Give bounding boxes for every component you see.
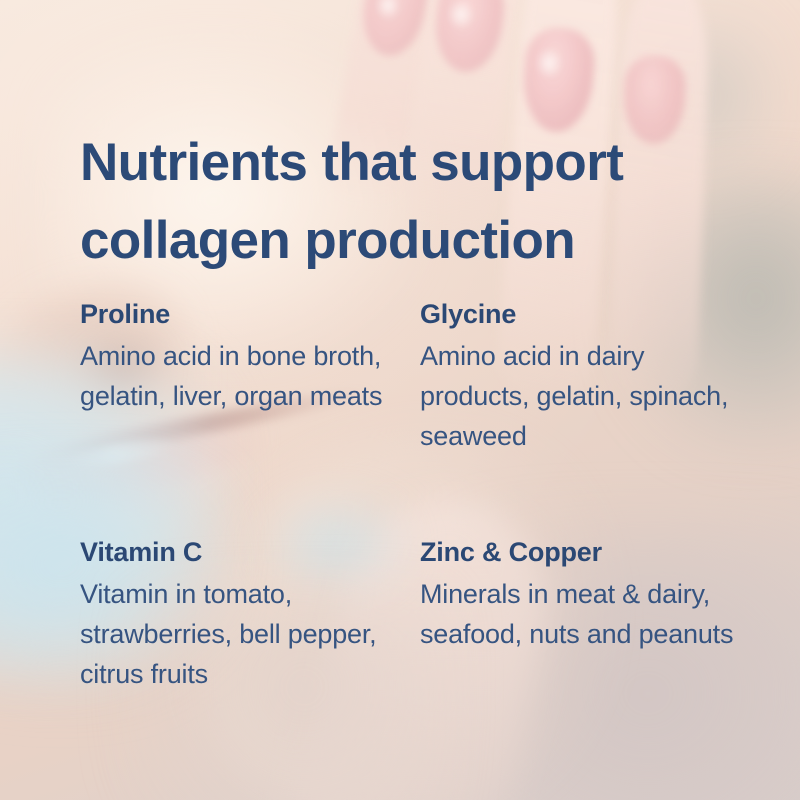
nutrient-description-glycine: Amino acid in dairy products, gelatin, s… (420, 336, 740, 456)
page-title-line-2: collagen production (80, 202, 740, 280)
nutrient-title-glycine: Glycine (420, 296, 740, 332)
nutrient-card-proline: Proline Amino acid in bone broth, gelati… (80, 296, 420, 456)
nutrient-description-proline: Amino acid in bone broth, gelatin, liver… (80, 336, 402, 416)
nutrient-title-zinc-copper: Zinc & Copper (420, 534, 740, 570)
nutrient-title-proline: Proline (80, 296, 402, 332)
nutrient-card-vitamin-c: Vitamin C Vitamin in tomato, strawberrie… (80, 534, 420, 694)
poster-canvas: Nutrients that support collagen producti… (0, 0, 800, 800)
nutrient-description-zinc-copper: Minerals in meat & dairy, seafood, nuts … (420, 574, 740, 654)
page-title-line-1: Nutrients that support (80, 124, 740, 202)
nutrient-description-vitamin-c: Vitamin in tomato, strawberries, bell pe… (80, 574, 402, 694)
nutrient-grid: Proline Amino acid in bone broth, gelati… (80, 296, 740, 694)
poster-content: Nutrients that support collagen producti… (0, 0, 800, 800)
nutrient-title-vitamin-c: Vitamin C (80, 534, 402, 570)
nutrient-row-1: Proline Amino acid in bone broth, gelati… (80, 296, 740, 456)
nutrient-row-2: Vitamin C Vitamin in tomato, strawberrie… (80, 534, 740, 694)
nutrient-card-zinc-copper: Zinc & Copper Minerals in meat & dairy, … (420, 534, 740, 694)
page-title: Nutrients that support collagen producti… (80, 124, 740, 280)
nutrient-card-glycine: Glycine Amino acid in dairy products, ge… (420, 296, 740, 456)
